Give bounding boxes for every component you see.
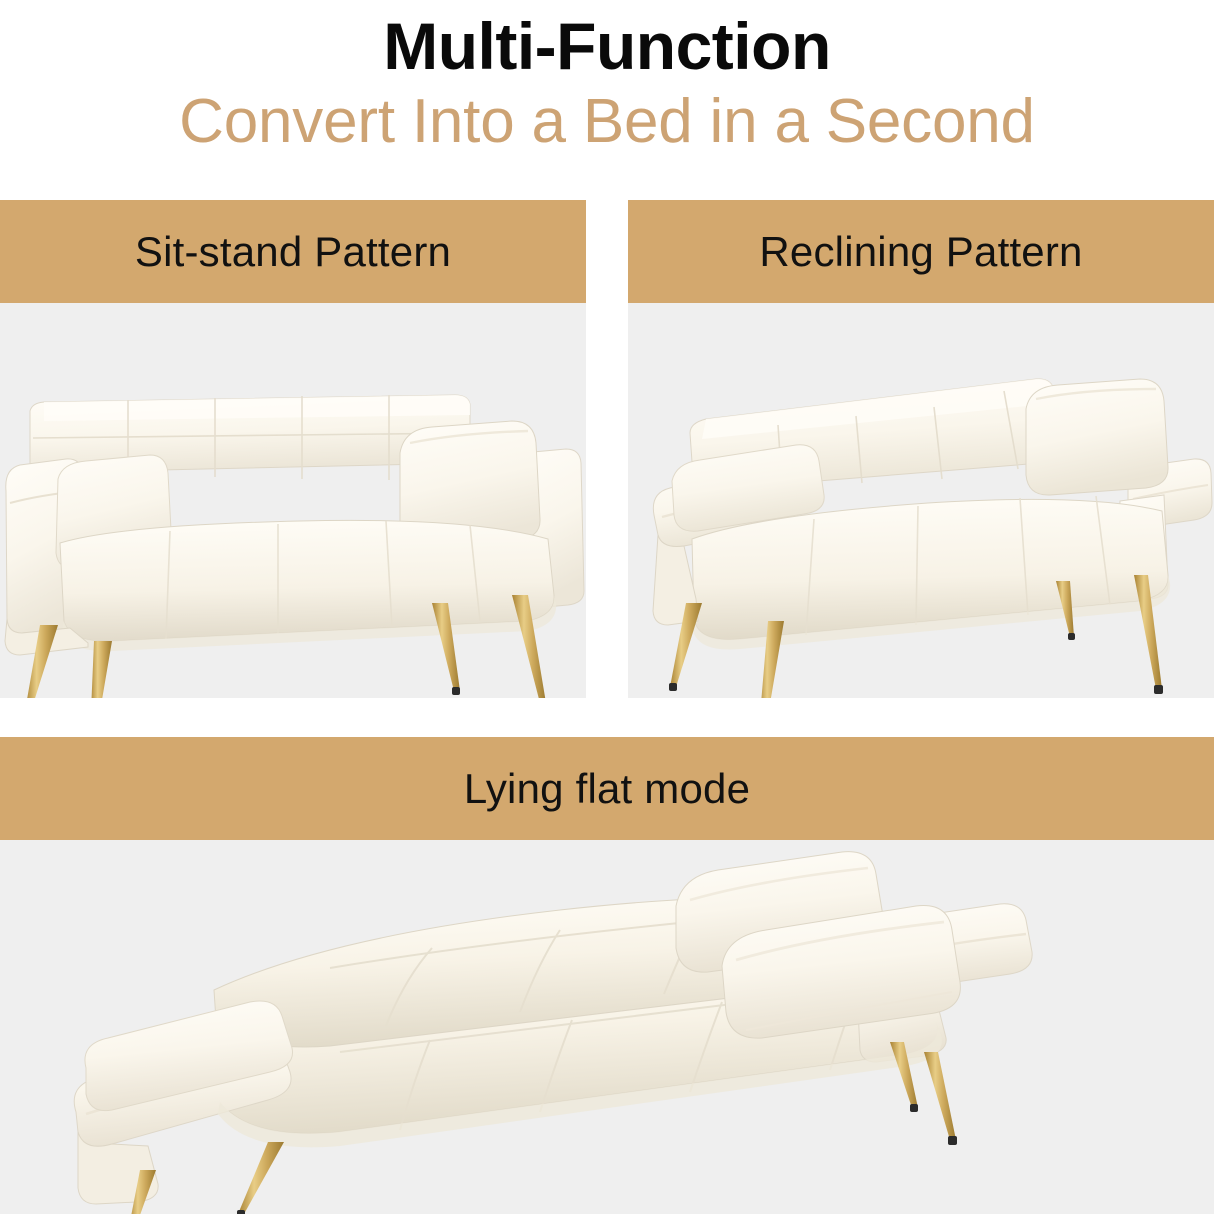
panel-image-reclining	[628, 303, 1214, 698]
panel-header-reclining: Reclining Pattern	[628, 200, 1214, 303]
sofa-illustration-sit-stand	[0, 303, 586, 698]
sofa-illustration-reclining	[628, 303, 1214, 698]
panel-reclining: Reclining Pattern	[628, 200, 1214, 698]
panel-image-lying-flat	[0, 840, 1214, 1214]
panel-sit-stand: Sit-stand Pattern	[0, 200, 586, 698]
page-subtitle: Convert Into a Bed in a Second	[0, 84, 1214, 158]
sofa-illustration-lying-flat	[0, 840, 1214, 1214]
panel-image-sit-stand	[0, 303, 586, 698]
panel-header-label-reclining: Reclining Pattern	[759, 229, 1082, 275]
panel-header-sit-stand: Sit-stand Pattern	[0, 200, 586, 303]
heading-block: Multi-Function Convert Into a Bed in a S…	[0, 0, 1214, 196]
panel-header-lying-flat: Lying flat mode	[0, 737, 1214, 840]
panel-header-label-lying-flat: Lying flat mode	[464, 766, 750, 812]
panel-header-label-sit-stand: Sit-stand Pattern	[135, 229, 451, 275]
page-title: Multi-Function	[0, 0, 1214, 84]
panel-lying-flat: Lying flat mode	[0, 737, 1214, 1214]
infographic-page: Multi-Function Convert Into a Bed in a S…	[0, 0, 1214, 1214]
